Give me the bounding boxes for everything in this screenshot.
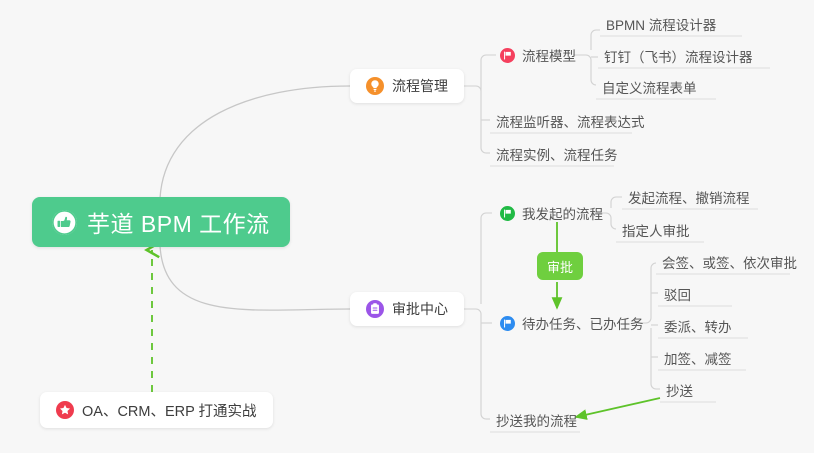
edge-ac-spine <box>464 309 486 419</box>
node-todo-done-tasks[interactable]: 待办任务、已办任务 <box>492 310 652 336</box>
flag-red-icon <box>500 48 515 63</box>
branch-process-management-label: 流程管理 <box>392 76 448 96</box>
leaf-instance-task-label: 流程实例、流程任务 <box>496 144 618 164</box>
leaf-countersign[interactable]: 会签、或签、依次审批 <box>654 249 805 275</box>
flag-blue-icon <box>500 316 515 331</box>
leaf-bpmn-designer[interactable]: BPMN 流程设计器 <box>598 11 724 37</box>
leaf-listener-expression-label: 流程监听器、流程表达式 <box>496 111 645 131</box>
bottom-note-node[interactable]: OA、CRM、ERP 打通实战 <box>40 392 273 428</box>
lightbulb-icon <box>366 77 384 95</box>
thumbs-up-icon <box>52 210 77 235</box>
annotation-tag-approval-label: 审批 <box>547 257 573 276</box>
leaf-dingtalk-feishu-designer-label: 钉钉（飞书）流程设计器 <box>604 46 753 66</box>
annotation-arrow-cc-to-ccme <box>576 398 660 417</box>
leaf-start-cancel-process[interactable]: 发起流程、撤销流程 <box>620 184 758 210</box>
leaf-reject[interactable]: 驳回 <box>656 281 699 307</box>
leaf-cc-label: 抄送 <box>666 380 693 400</box>
mindmap-canvas: 芋道 BPM 工作流 OA、CRM、ERP 打通实战 流程管理 <box>0 0 814 453</box>
leaf-assignee-approval[interactable]: 指定人审批 <box>614 217 698 243</box>
branch-approval-center-label: 审批中心 <box>392 299 448 319</box>
edge-root-to-approval-center <box>160 246 350 310</box>
star-icon <box>56 401 74 419</box>
leaf-add-remove-sign[interactable]: 加签、减签 <box>656 345 740 371</box>
leaf-reject-label: 驳回 <box>664 284 691 304</box>
leaf-add-remove-sign-label: 加签、减签 <box>664 348 732 368</box>
node-process-model-label: 流程模型 <box>522 45 576 65</box>
leaf-bpmn-designer-label: BPMN 流程设计器 <box>606 14 716 34</box>
node-my-started-process-label: 我发起的流程 <box>522 203 603 223</box>
leaf-cc-to-me-process[interactable]: 抄送我的流程 <box>488 407 585 433</box>
leaf-custom-process-form[interactable]: 自定义流程表单 <box>594 74 705 100</box>
leaf-delegate-transfer[interactable]: 委派、转办 <box>656 313 740 339</box>
leaf-countersign-label: 会签、或签、依次审批 <box>662 252 797 272</box>
leaf-listener-expression[interactable]: 流程监听器、流程表达式 <box>488 108 653 134</box>
leaf-custom-process-form-label: 自定义流程表单 <box>602 77 697 97</box>
leaf-start-cancel-process-label: 发起流程、撤销流程 <box>628 187 750 207</box>
edge-ac-spine-up <box>481 213 492 304</box>
node-my-started-process[interactable]: 我发起的流程 <box>492 200 611 226</box>
edge-pm-spine <box>464 86 486 153</box>
flag-green-icon <box>500 206 515 221</box>
leaf-instance-task[interactable]: 流程实例、流程任务 <box>488 141 626 167</box>
branch-approval-center[interactable]: 审批中心 <box>350 292 464 326</box>
leaf-cc[interactable]: 抄送 <box>658 377 701 403</box>
branch-process-management[interactable]: 流程管理 <box>350 69 464 103</box>
edge-root-to-process-management <box>160 86 350 198</box>
clipboard-icon <box>366 300 384 318</box>
annotation-tag-approval[interactable]: 审批 <box>537 252 583 280</box>
leaf-cc-to-me-process-label: 抄送我的流程 <box>496 410 577 430</box>
leaf-dingtalk-feishu-designer[interactable]: 钉钉（飞书）流程设计器 <box>596 43 761 69</box>
root-node[interactable]: 芋道 BPM 工作流 <box>32 197 290 247</box>
leaf-delegate-transfer-label: 委派、转办 <box>664 316 732 336</box>
root-node-label: 芋道 BPM 工作流 <box>87 205 270 239</box>
leaf-assignee-approval-label: 指定人审批 <box>622 220 690 240</box>
node-process-model[interactable]: 流程模型 <box>492 42 584 68</box>
node-todo-done-tasks-label: 待办任务、已办任务 <box>522 313 644 333</box>
bottom-note-label: OA、CRM、ERP 打通实战 <box>82 400 257 421</box>
